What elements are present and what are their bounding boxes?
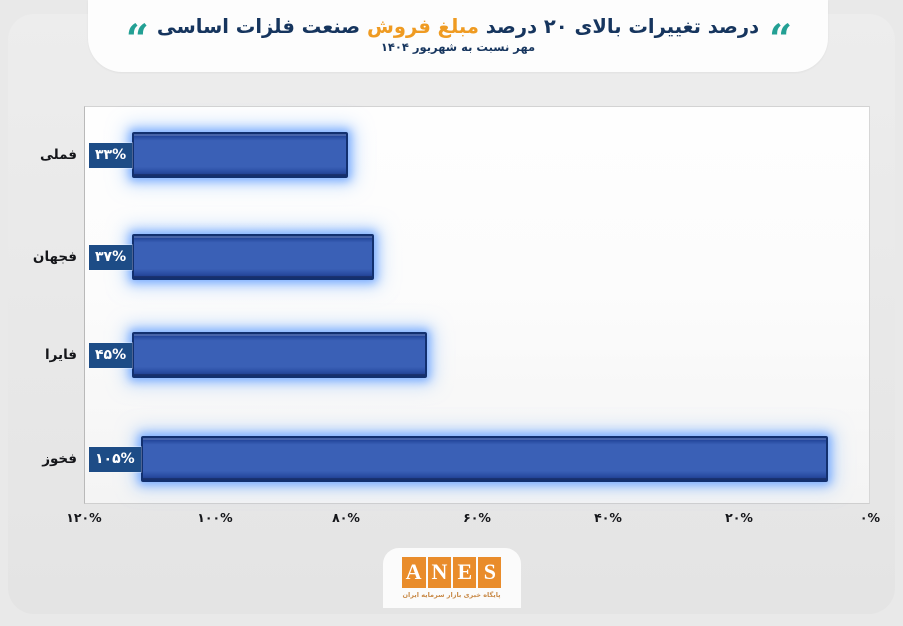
bar[interactable] [141, 436, 829, 482]
page-title: درصد تغییرات بالای ۲۰ درصد مبلغ فروش صنع… [157, 15, 759, 38]
x-axis-tick-label: ۱۲۰% [66, 510, 101, 525]
title-part-before: درصد تغییرات بالای ۲۰ درصد [486, 15, 759, 38]
bar-with-value: ۳۳% [85, 132, 348, 178]
bar[interactable] [132, 332, 427, 378]
category-label: فجهان [33, 249, 77, 265]
bar-value-label: ۳۷% [89, 245, 132, 270]
x-axis-tick-label: ۰% [860, 510, 880, 525]
bar-rows: فملی۳۳%فجهان۳۷%فایرا۴۵%فخوز۱۰۵% [85, 107, 869, 503]
infographic-page: “ درصد تغییرات بالای ۲۰ درصد مبلغ فروش ص… [0, 0, 903, 626]
x-axis-tick-label: ۶۰% [463, 510, 491, 525]
title-part-after: صنعت فلزات اساسی [157, 15, 360, 38]
bar-with-value: ۴۵% [85, 332, 427, 378]
category-label: فایرا [45, 347, 77, 363]
bar-row: فایرا۴۵% [85, 327, 427, 383]
x-axis-tick-label: ۲۰% [725, 510, 753, 525]
logo-wordmark: SENA [402, 557, 502, 588]
sena-logo: SENA پایگاه خبری بازار سرمایه ایران [383, 548, 521, 608]
bar[interactable] [132, 132, 348, 178]
page-subtitle: مهر نسبت به شهریور ۱۴۰۴ [381, 40, 535, 54]
logo-letter: S [478, 557, 501, 588]
category-label: فملی [40, 147, 77, 163]
logo-letter: E [453, 557, 476, 588]
x-axis-tick-label: ۸۰% [332, 510, 360, 525]
category-label: فخوز [42, 451, 77, 467]
logo-subtitle: پایگاه خبری بازار سرمایه ایران [402, 591, 500, 599]
plot-area: فملی۳۳%فجهان۳۷%فایرا۴۵%فخوز۱۰۵% [84, 106, 870, 504]
logo-letter: A [402, 557, 426, 588]
bar-value-label: ۴۵% [89, 343, 132, 368]
logo-letter: N [428, 557, 452, 588]
bar-chart: فملی۳۳%فجهان۳۷%فایرا۴۵%فخوز۱۰۵% ۰%۲۰%۴۰%… [18, 92, 878, 544]
bar[interactable] [132, 234, 374, 280]
bar-row: فملی۳۳% [85, 127, 348, 183]
title-highlight: مبلغ فروش [367, 15, 479, 38]
bar-with-value: ۱۰۵% [85, 436, 828, 482]
bar-row: فجهان۳۷% [85, 229, 374, 285]
bar-row: فخوز۱۰۵% [85, 431, 828, 487]
chart-header: “ درصد تغییرات بالای ۲۰ درصد مبلغ فروش ص… [88, 0, 828, 72]
x-axis-tick-label: ۴۰% [594, 510, 622, 525]
bar-value-label: ۳۳% [89, 143, 132, 168]
bar-value-label: ۱۰۵% [89, 447, 141, 472]
x-axis-tick-label: ۱۰۰% [197, 510, 232, 525]
x-axis: ۰%۲۰%۴۰%۶۰%۸۰%۱۰۰%۱۲۰% [84, 510, 870, 536]
bar-with-value: ۳۷% [85, 234, 374, 280]
